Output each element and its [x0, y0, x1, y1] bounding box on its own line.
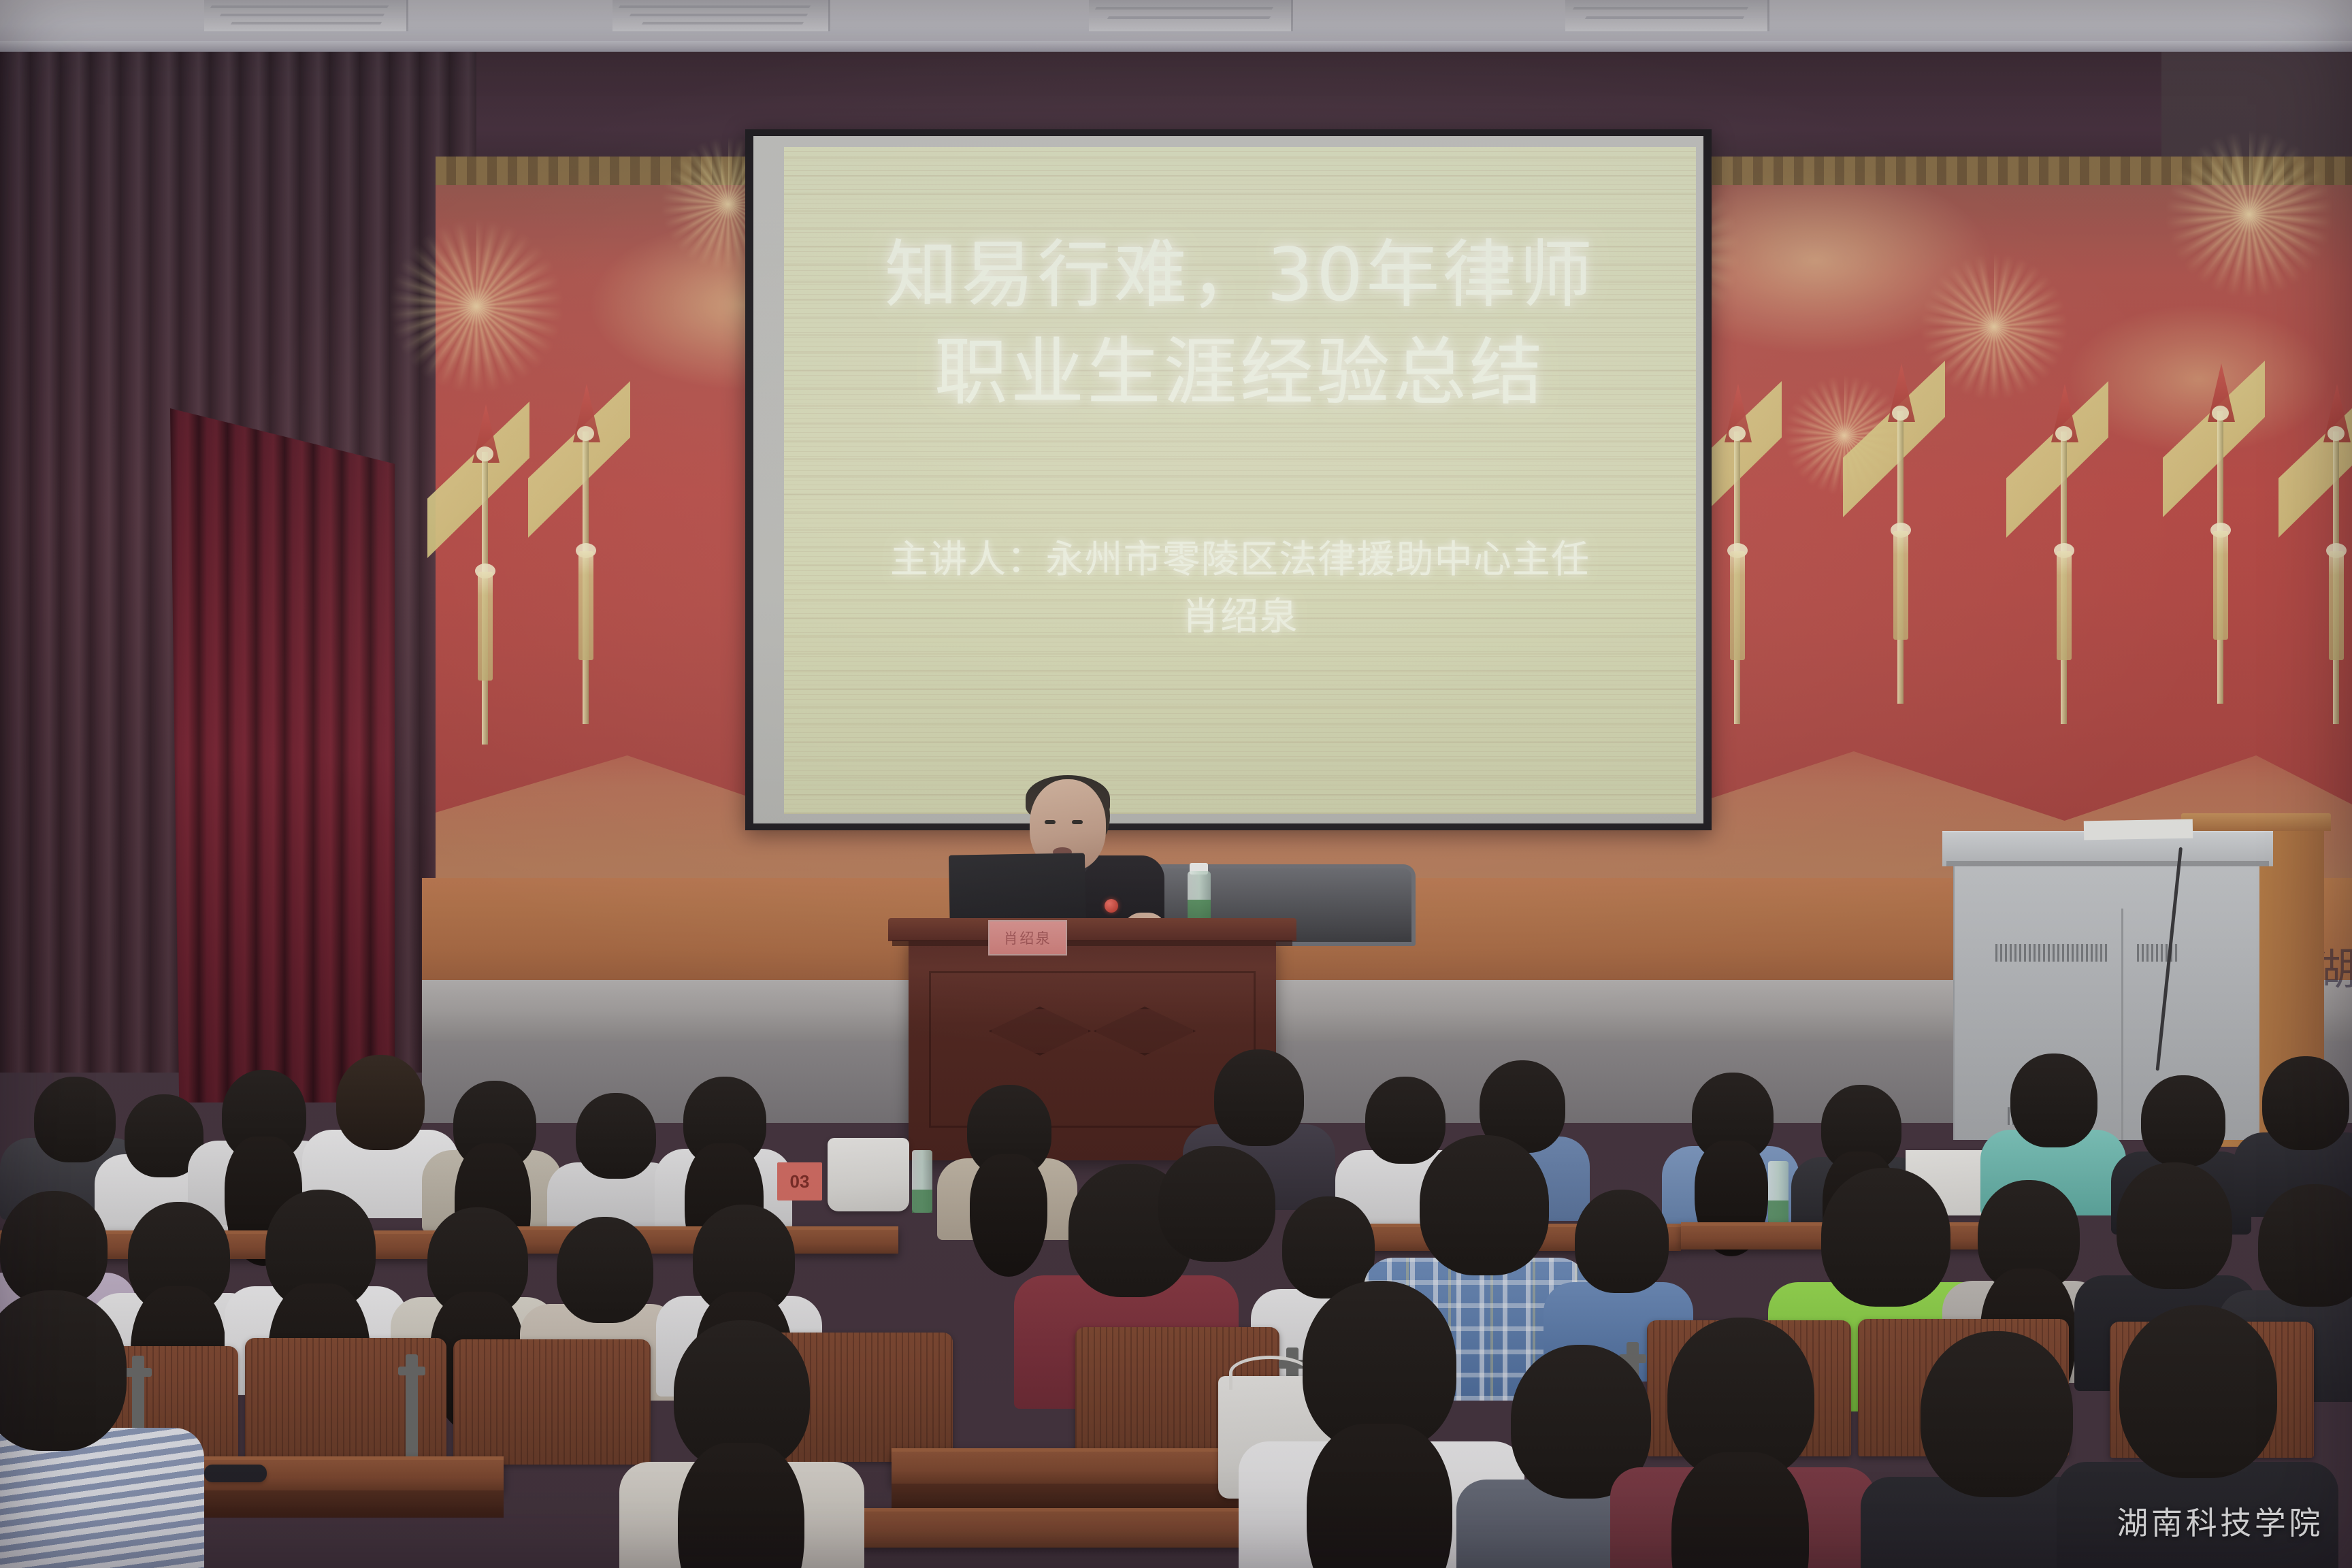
flag-pennant-icon [422, 402, 538, 755]
watermark: 湖南科技学院 [2117, 1499, 2323, 1543]
flag-pennant-icon [523, 381, 638, 735]
bag-strap [1229, 1356, 1311, 1390]
audience-area: 03 [0, 1048, 2352, 1568]
speaker-nameplate: 肖绍泉 [988, 920, 1067, 955]
tote-bag [828, 1138, 909, 1211]
auditorium-seat[interactable] [453, 1339, 651, 1465]
student-desk [476, 1226, 898, 1254]
water-bottle [1768, 1161, 1788, 1224]
stage-curtain-left-inner [170, 408, 395, 1102]
flag-pennant-icon [1837, 361, 1953, 715]
ceiling-rim [0, 41, 2352, 52]
projection-screen: 知易行难，30年律师 职业生涯经验总结 主讲人：永州市零陵区法律援助中心主任 肖… [745, 129, 1712, 830]
screen-border: 知易行难，30年律师 职业生涯经验总结 主讲人：永州市零陵区法律援助中心主任 肖… [753, 136, 1703, 823]
slide-title: 知易行难，30年律师 职业生涯经验总结 [885, 227, 1596, 421]
row-number-marker: 03 [777, 1162, 822, 1200]
student-desk [789, 1508, 1307, 1548]
ceiling [0, 0, 2352, 45]
seat-hinge [406, 1354, 418, 1463]
presentation-slide: 知易行难，30年律师 职业生涯经验总结 主讲人：永州市零陵区法律援助中心主任 肖… [784, 147, 1696, 814]
lapel-pin-icon [1105, 899, 1118, 913]
flag-pennant-icon [2273, 381, 2352, 735]
slide-subtitle: 主讲人：永州市零陵区法律援助中心主任 肖绍泉 [890, 532, 1590, 646]
water-bottle [912, 1150, 932, 1213]
paper-on-cabinet [2084, 819, 2193, 840]
phone-on-desk [204, 1465, 267, 1482]
lecture-hall-photo: 知易行难，30年律师 职业生涯经验总结 主讲人：永州市零陵区法律援助中心主任 肖… [0, 0, 2352, 1568]
flag-pennant-icon [2001, 381, 2117, 735]
flag-pennant-icon [2157, 361, 2273, 715]
